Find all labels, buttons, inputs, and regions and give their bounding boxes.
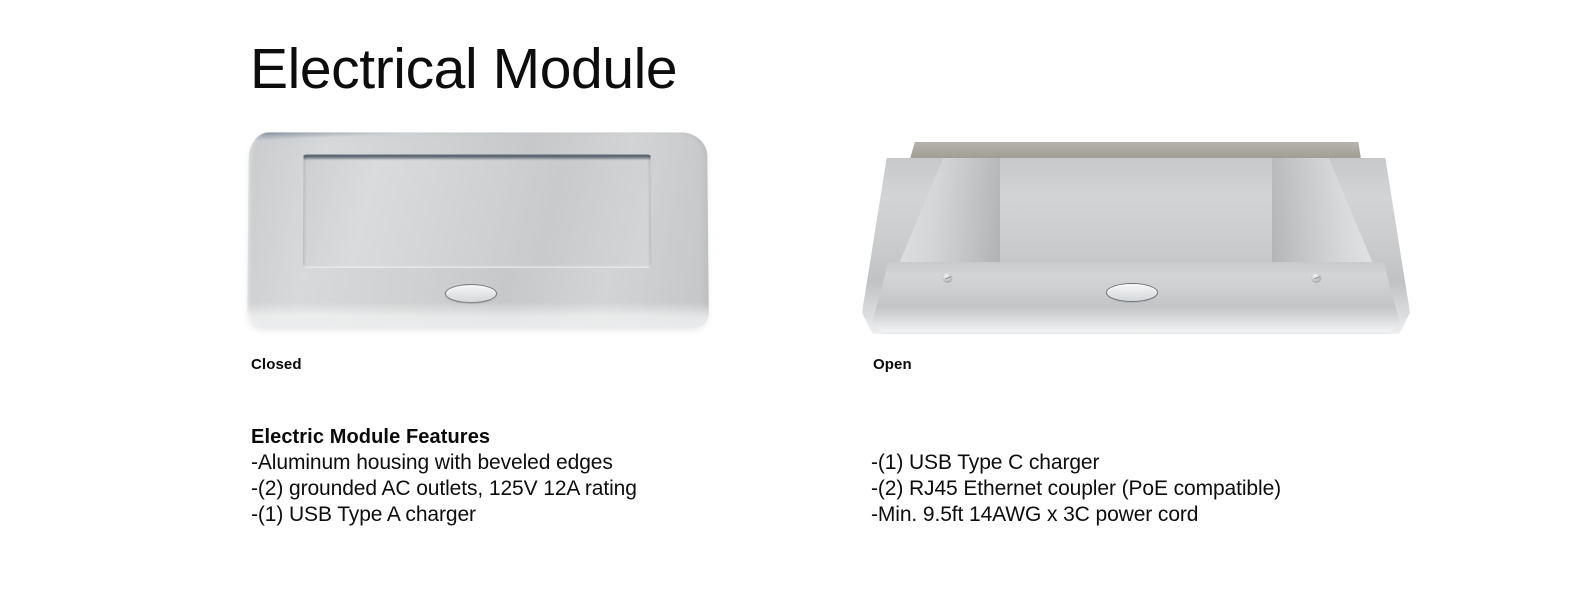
closed-module-housing xyxy=(247,132,709,328)
screw-icon xyxy=(1312,273,1321,282)
feature-item: -(1) USB Type C charger xyxy=(871,450,1281,476)
features-heading: Electric Module Features xyxy=(251,426,490,449)
page-title: Electrical Module xyxy=(250,36,677,102)
features-list-left: -Aluminum housing with beveled edges -(2… xyxy=(251,450,637,528)
features-list-right: -(1) USB Type C charger -(2) RJ45 Ethern… xyxy=(871,450,1281,528)
product-image-closed xyxy=(243,128,713,333)
feature-item: -Aluminum housing with beveled edges xyxy=(251,450,637,476)
screw-icon xyxy=(943,273,952,282)
feature-item: -(2) grounded AC outlets, 125V 12A ratin… xyxy=(251,476,637,502)
caption-closed: Closed xyxy=(251,356,302,373)
caption-open: Open xyxy=(873,356,912,373)
feature-item: -Min. 9.5ft 14AWG x 3C power cord xyxy=(871,502,1281,528)
latch-oval-icon xyxy=(445,284,497,303)
open-module-stage xyxy=(862,142,1410,334)
product-image-open xyxy=(862,142,1410,334)
feature-item: -(1) USB Type A charger xyxy=(251,502,637,528)
latch-oval-icon xyxy=(1106,283,1158,302)
feature-item: -(2) RJ45 Ethernet coupler (PoE compatib… xyxy=(871,476,1281,502)
closed-module-lid xyxy=(303,154,652,268)
